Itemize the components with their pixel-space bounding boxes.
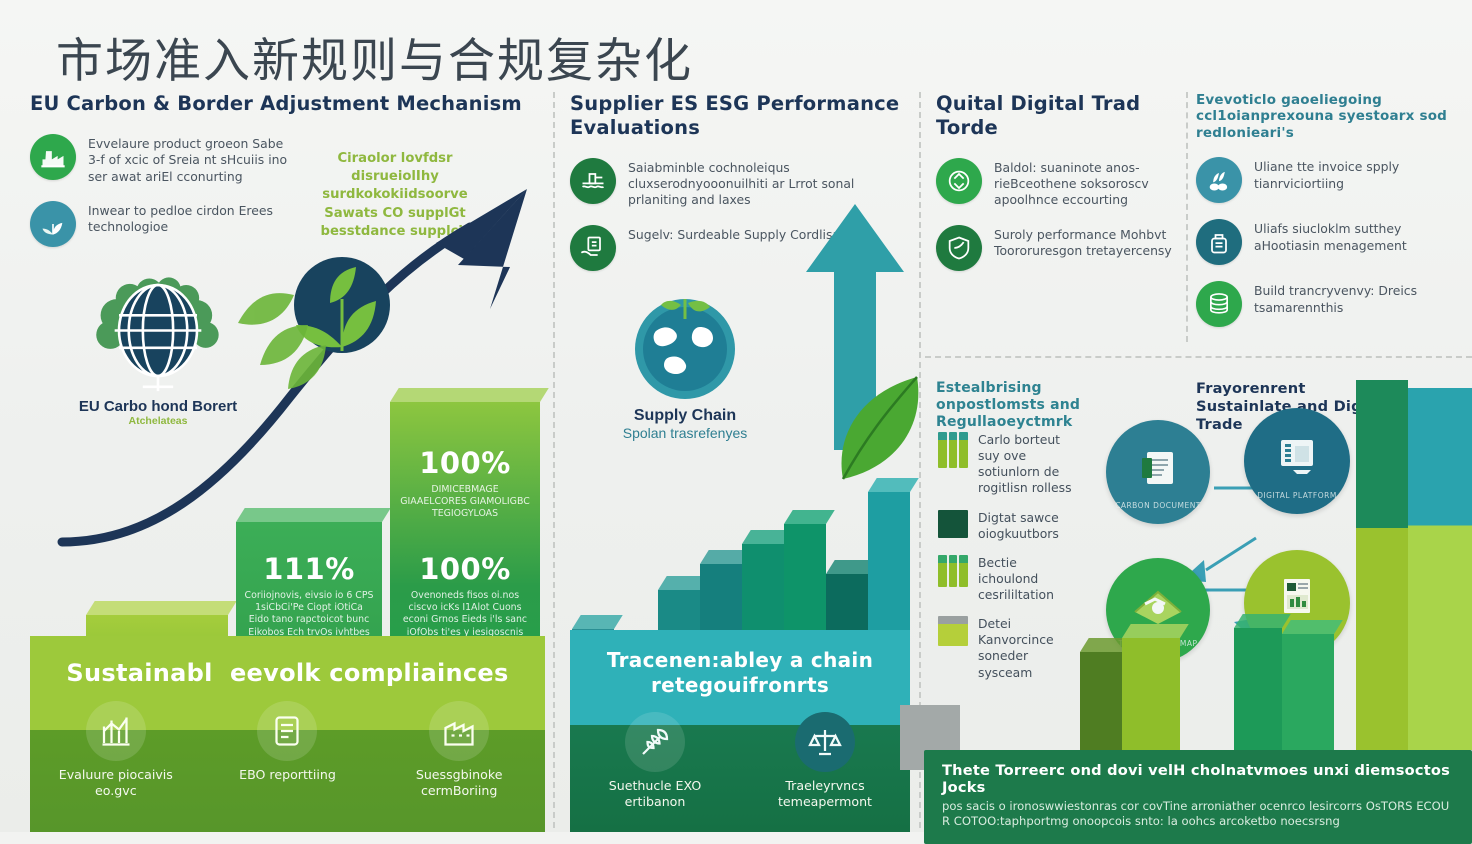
bullet-text: Evvelaure product groeon Sabe 3-f of xci…: [88, 134, 295, 185]
divider-horizontal: [925, 356, 1472, 358]
leaf-sprout-icon: [30, 201, 76, 247]
bullet-text: Build trancryvenvy: Dreics tsamarennthis: [1254, 281, 1464, 316]
page-title: 市场准入新规则与合规复杂化: [56, 22, 693, 91]
esg-band: Tracenen:abley a chain retegouifronrts S…: [570, 630, 910, 832]
bar-3-toplabel-sub: DIMICEBMAGE GIAAELCORES GIAMOLIGBC TEGIO…: [390, 484, 540, 521]
legend-text: Digtat sawce oiogkuutbors: [978, 510, 1078, 542]
report-document-icon: [257, 701, 317, 761]
panel-esg-heading: Supplier ES ESG Performance Evaluations: [570, 92, 910, 140]
industry-water-icon: [570, 158, 616, 204]
panel-cbam-heading: EU Carbon & Border Adjustment Mechanism: [30, 92, 545, 116]
leaves-cluster-icon: [1196, 157, 1242, 203]
band-item: Suessgbinoke cermBoriing: [384, 701, 534, 798]
cbam-band: Sustainabl eevolk compliainces Evaluure …: [30, 636, 545, 832]
legend-swatch: [938, 555, 968, 587]
band-item: Suethucle EXO ertibanon: [580, 712, 730, 809]
bullet-text: Sugelv: Surdeable Supply Cordlisate: [628, 225, 853, 243]
panel-trade-heading: Quital Digital Trad Torde: [936, 92, 1181, 140]
band-item: Evaluure piocaivis eo.gvc: [41, 701, 191, 798]
divider-1: [553, 92, 555, 828]
monitor-icon: [1271, 432, 1323, 482]
panel-compliance-heading: Evevoticlo gaoeliegoing ccl1oianprexouna…: [1196, 92, 1464, 141]
footer-note-body: pos sacis o ironoswwiestonras cor covTin…: [942, 799, 1454, 830]
bar-2-pct: 111%: [236, 552, 382, 586]
bullet-text: Saiabminble cochnoleiqus cluxserodnyooon…: [628, 158, 910, 209]
legend-swatch: [938, 432, 968, 468]
bar: [1080, 652, 1122, 750]
legend-row: Bectie ichoulond cesrililtation: [938, 555, 1078, 603]
legend-row: Detei Kanvorcince soneder sysceam: [938, 616, 1078, 681]
cbam-blurb: Ciraolor lovfdsr disrueiolIhy surdkokoki…: [300, 150, 490, 241]
bullet-text: Baldol: suaninote anos-rieBceothene soks…: [994, 158, 1181, 209]
bullet-row: Sugelv: Surdeable Supply Cordlisate: [570, 225, 910, 271]
legend-swatch: [938, 510, 968, 538]
node-caption: CARBON DOCUMENT: [1106, 501, 1210, 510]
bullet-text: Uliafs siucloklm sutthey aHootiasin mena…: [1254, 219, 1464, 254]
wheat-leaf-icon: [625, 712, 685, 772]
factory-icon: [30, 134, 76, 180]
shield-leaf-icon: [936, 225, 982, 271]
band-caption: Suessgbinoke cermBoriing: [384, 767, 534, 798]
doc-node: CARBON DOCUMENT: [1106, 420, 1210, 524]
legend-text: Carlo borteut suy ove sotiunlorn de rogi…: [978, 432, 1078, 497]
coins-jar-icon: [1196, 219, 1242, 265]
legend-text: Bectie ichoulond cesrililtation: [978, 555, 1078, 603]
coin-stack-icon: [1196, 281, 1242, 327]
bullet-text: Inwear to pedloe cirdon Erees technologi…: [88, 201, 295, 236]
band-caption: Traeleyrvncs temeapermont: [750, 778, 900, 809]
panel-cbam: EU Carbon & Border Adjustment Mechanism …: [30, 92, 545, 247]
band-item: Traeleyrvncs temeapermont: [750, 712, 900, 809]
band-caption: Evaluure piocaivis eo.gvc: [41, 767, 191, 798]
panel-digital-trade: Quital Digital Trad Torde Baldol: suanin…: [936, 92, 1181, 271]
esg-band-items: Suethucle EXO ertibanon Traeleyrvncs tem…: [570, 712, 910, 809]
document-icon: [1134, 444, 1182, 492]
right-legend: Carlo borteut suy ove sotiunlorn de rogi…: [938, 432, 1078, 694]
bullet-text: Suroly performance Mohbvt Toororuresgon …: [994, 225, 1181, 260]
bar-3-pct2: 100%: [390, 552, 540, 586]
bullet-row: Saiabminble cochnoleiqus cluxserodnyooon…: [570, 158, 910, 209]
bullet-row: Baldol: suaninote anos-rieBceothene soks…: [936, 158, 1181, 209]
bullet-row: Build trancryvenvy: Dreics tsamarennthis: [1196, 281, 1464, 327]
bullet-row: Suroly performance Mohbvt Toororuresgon …: [936, 225, 1181, 271]
bar: [1234, 628, 1282, 750]
divider-3: [1186, 92, 1188, 342]
certificate-hand-icon: [570, 225, 616, 271]
bullet-row: Evvelaure product groeon Sabe 3-f of xci…: [30, 134, 295, 185]
footer-note-title: Thete Torreerc ond dovi velH cholnatvmoe…: [942, 762, 1454, 796]
legend-swatch: [938, 616, 968, 646]
bar-chart-icon: [86, 701, 146, 761]
legend-row: Carlo borteut suy ove sotiunlorn de rogi…: [938, 432, 1078, 497]
panel-compliance: Evevoticlo gaoeliegoing ccl1oianprexouna…: [1196, 92, 1464, 327]
cbam-band-items: Evaluure piocaivis eo.gvc EBO reporttiin…: [30, 701, 545, 798]
globe-icon: [93, 272, 223, 402]
bullet-row: Uliane tte invoice spply tianrviciortiin…: [1196, 157, 1464, 203]
legend-row: Digtat sawce oiogkuutbors: [938, 510, 1078, 542]
band-caption: Suethucle EXO ertibanon: [580, 778, 730, 809]
esg-band-title: Tracenen:abley a chain retegouifronrts: [570, 630, 910, 698]
factory-building-icon: [429, 701, 489, 761]
bullet-row: Inwear to pedloe cirdon Erees technologi…: [30, 201, 295, 247]
infographic-canvas: 市场准入新规则与合规复杂化 EU Carbon & Border Adjustm…: [0, 0, 1472, 832]
bar-3-pct: 100%: [390, 446, 540, 480]
bar: [1282, 634, 1334, 750]
footer-note: Thete Torreerc ond dovi velH cholnatvmoe…: [924, 750, 1472, 844]
tall-column: [1356, 380, 1408, 750]
bullet-row: Uliafs siucloklm sutthey aHootiasin mena…: [1196, 219, 1464, 265]
bullet-text: Uliane tte invoice spply tianrviciortiin…: [1254, 157, 1464, 192]
screen-node: DIGITAL PLATFORM: [1244, 408, 1350, 514]
tall-column-2: [1408, 388, 1472, 750]
legend-text: Detei Kanvorcince soneder sysceam: [978, 616, 1078, 681]
band-item: EBO reporttiing: [212, 701, 362, 798]
right-lower-section: Estealbrising onpostlomsts and Regullaoe…: [936, 380, 1472, 832]
node-caption: DIGITAL PLATFORM: [1244, 491, 1350, 500]
cbam-band-title: Sustainabl eevolk compliainces: [30, 636, 545, 687]
scales-icon: [795, 712, 855, 772]
panel-esg: Supplier ES ESG Performance Evaluations …: [570, 92, 910, 271]
band-caption: EBO reporttiing: [239, 767, 336, 783]
recycle-globe-icon: [936, 158, 982, 204]
bar: [1122, 638, 1180, 750]
